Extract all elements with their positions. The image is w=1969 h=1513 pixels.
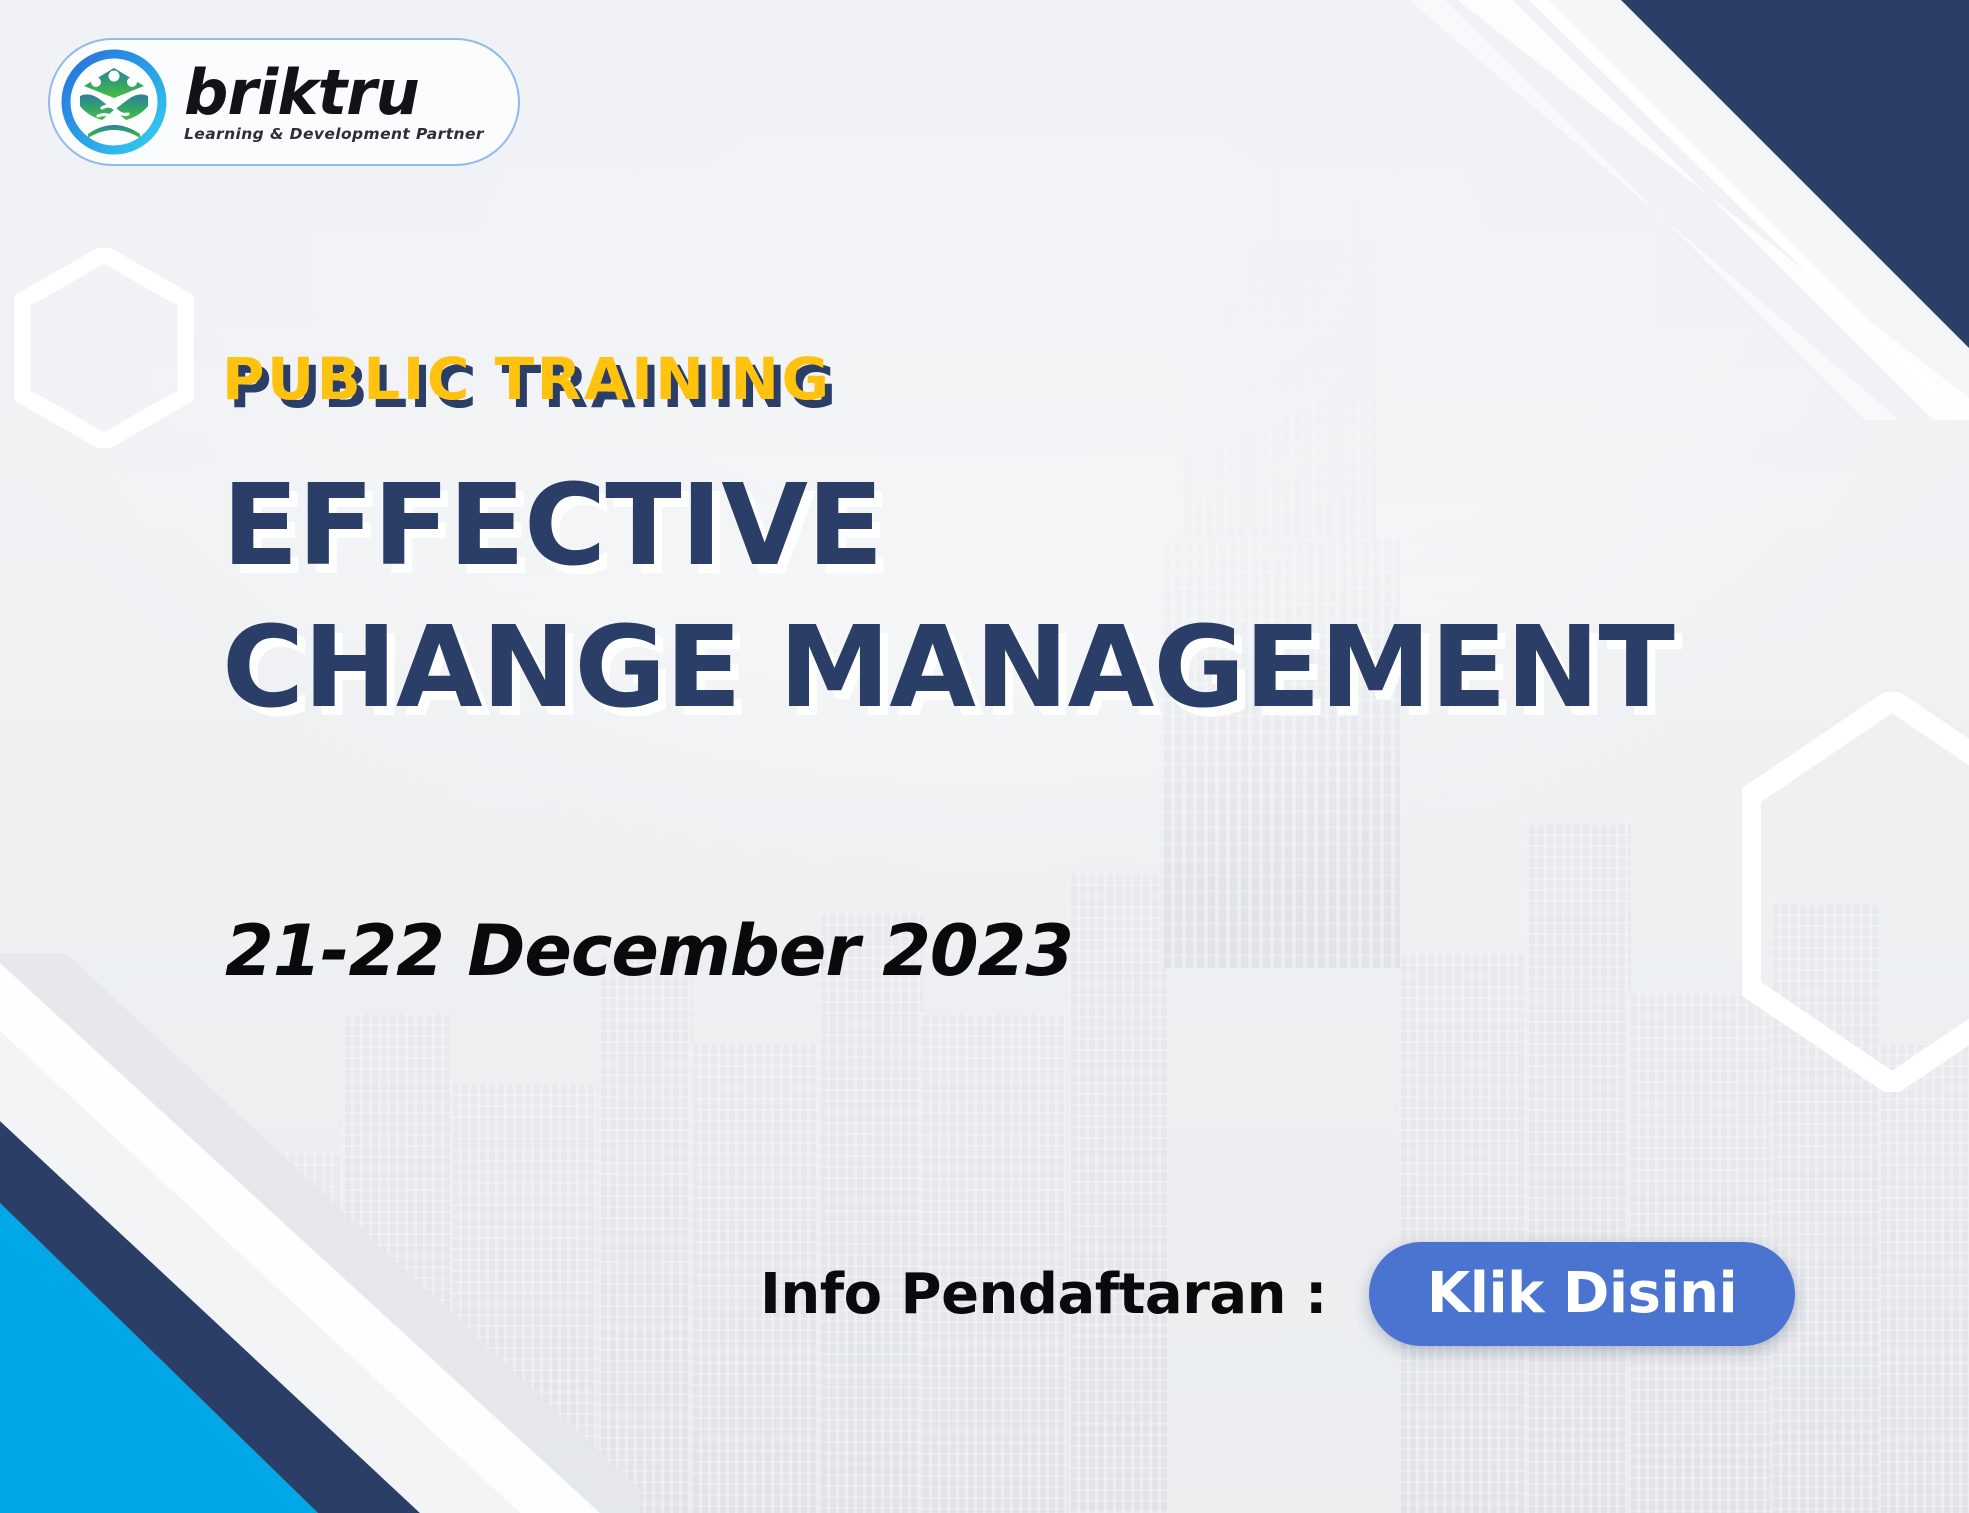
hexagon-outline-icon [14, 248, 194, 448]
corner-decoration-bottom-left [0, 953, 640, 1513]
handshake-circle-icon [58, 46, 170, 158]
page-title-line2: CHANGE MANAGEMENT [222, 612, 1674, 724]
poster-canvas: briktru Learning & Development Partner P… [0, 0, 1969, 1513]
brand-tagline: Learning & Development Partner [184, 127, 484, 143]
hexagon-outline-icon [1742, 692, 1969, 1092]
cta-row: Info Pendaftaran : Klik Disini [760, 1242, 1795, 1346]
register-button[interactable]: Klik Disini [1369, 1242, 1795, 1346]
page-title-line1: EFFECTIVE [222, 470, 882, 582]
kicker-label: PUBLIC TRAINING [222, 345, 832, 413]
corner-decoration-top-right [1409, 0, 1969, 420]
brand-name: briktru [184, 62, 484, 124]
registration-info-label: Info Pendaftaran : [760, 1262, 1327, 1327]
brand-logo[interactable]: briktru Learning & Development Partner [48, 38, 520, 166]
event-date: 21-22 December 2023 [225, 910, 1073, 992]
